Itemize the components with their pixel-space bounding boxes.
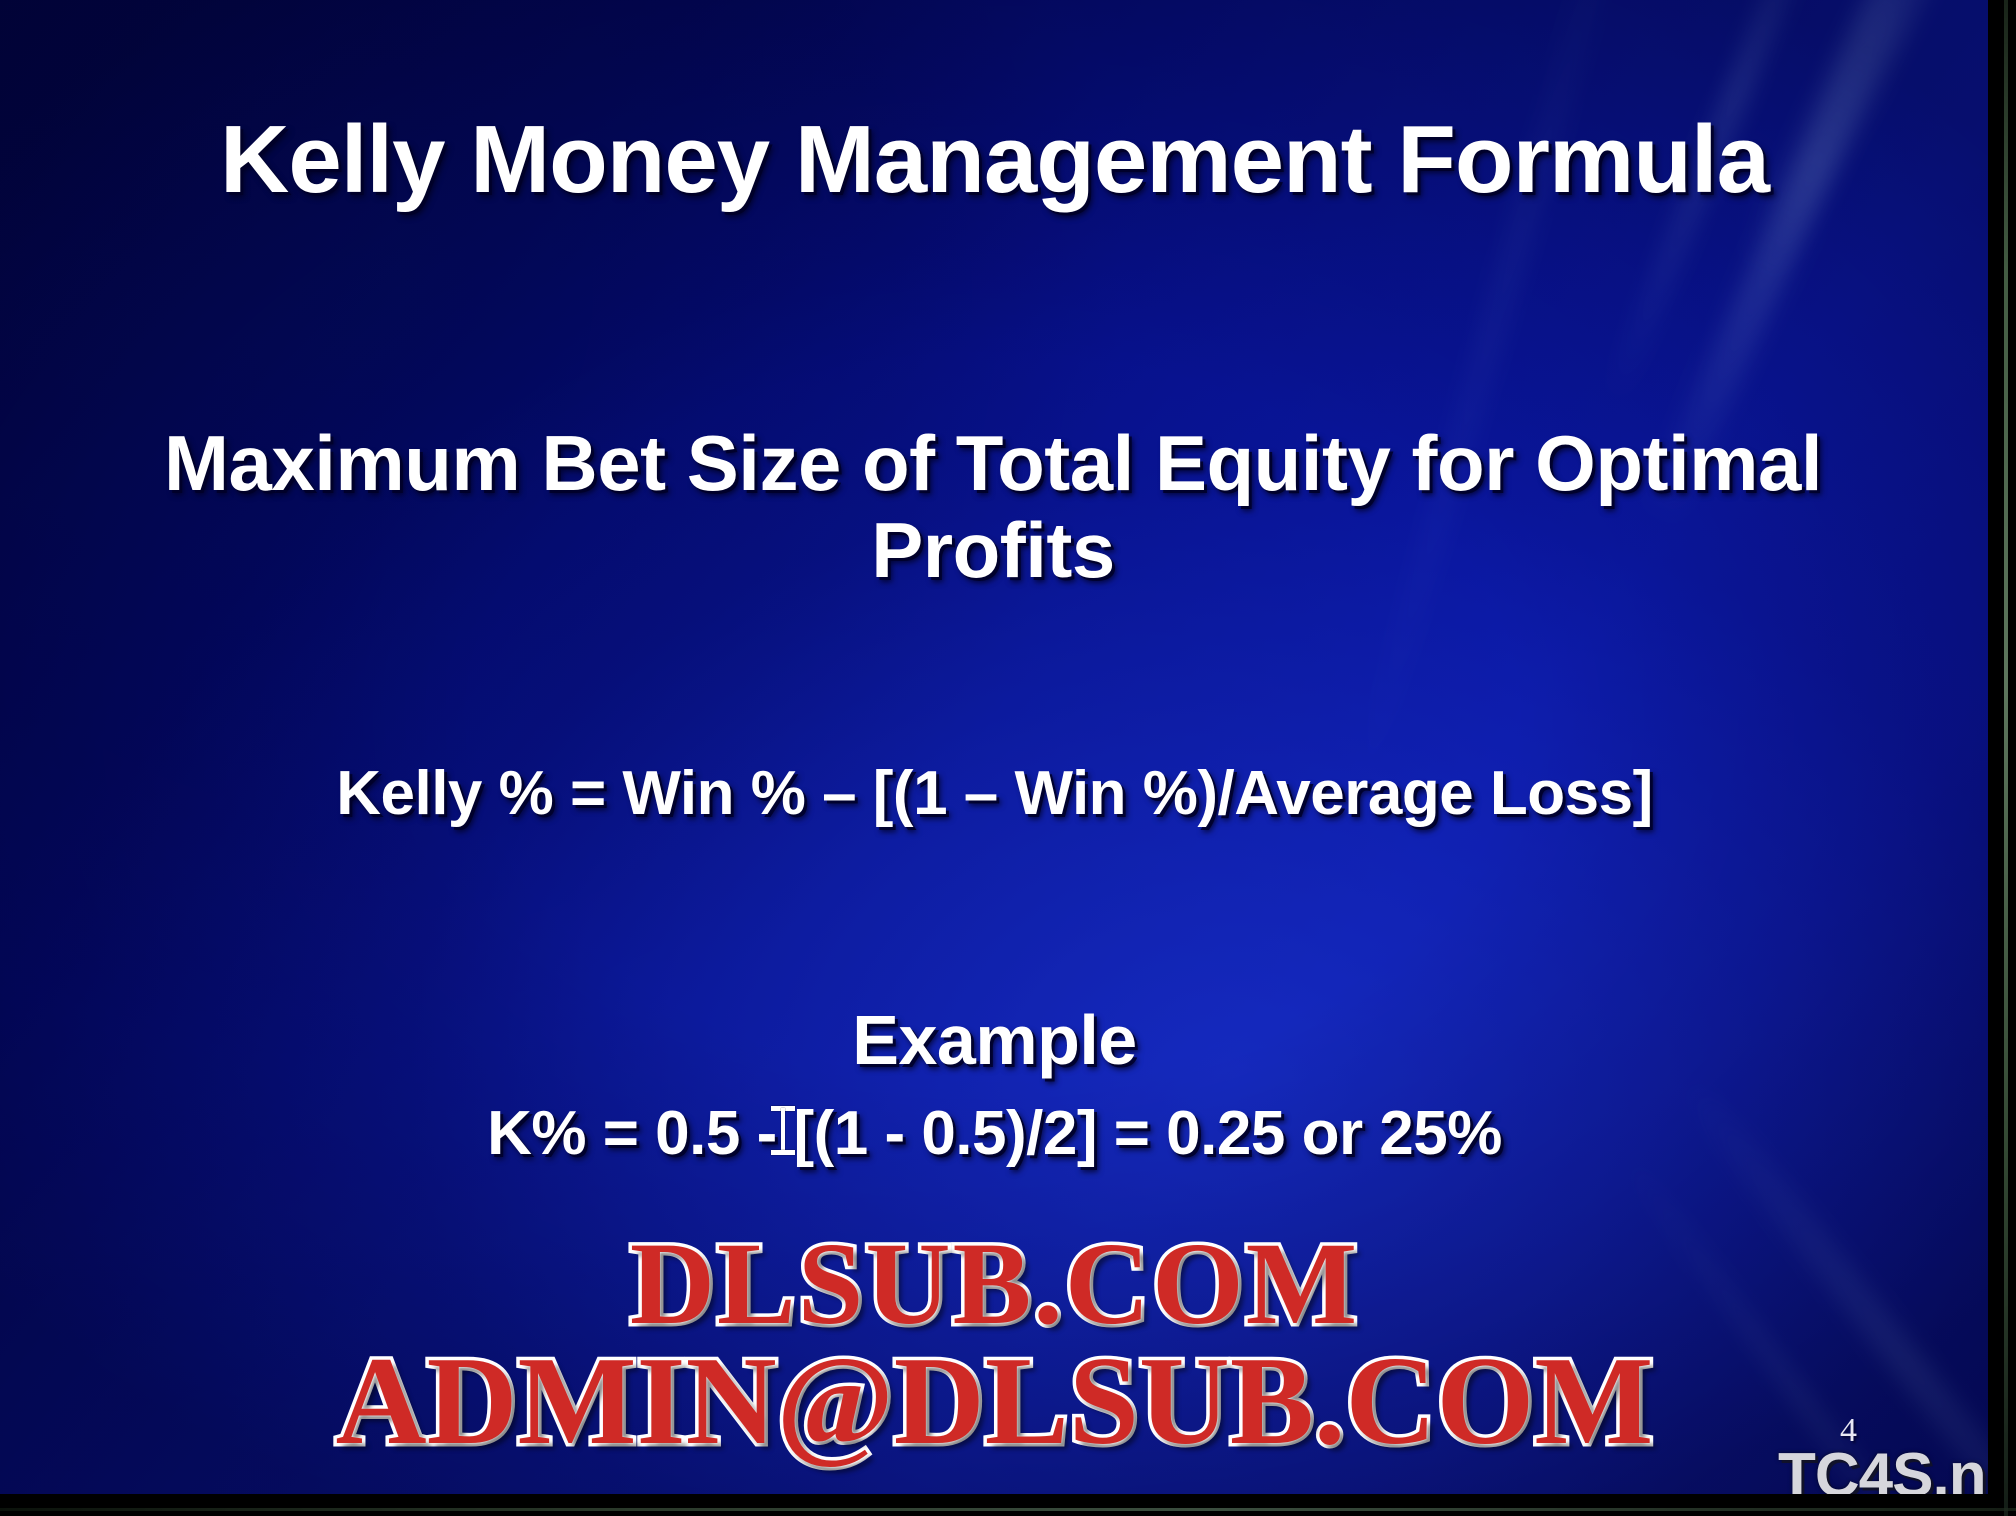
border-right [1988,0,2016,1516]
border-hairline-bottom [0,1508,2016,1511]
kelly-formula-text: Kelly % = Win % – [(1 – Win %)/Average L… [0,758,1989,829]
border-hairline-right [2004,0,2008,1516]
slide-title: Kelly Money Management Formula [0,105,1989,215]
presentation-slide: Kelly Money Management Formula Maximum B… [0,0,2016,1516]
border-bottom [0,1494,2016,1516]
slide-subtitle: Maximum Bet Size of Total Equity for Opt… [120,420,1866,595]
example-calculation-text: K% = 0.5 - [(1 - 0.5)/2] = 0.25 or 25% [0,1098,1989,1169]
watermark-email: ADMIN@DLSUB.COM [0,1330,1989,1474]
example-heading: Example [0,1000,1989,1080]
